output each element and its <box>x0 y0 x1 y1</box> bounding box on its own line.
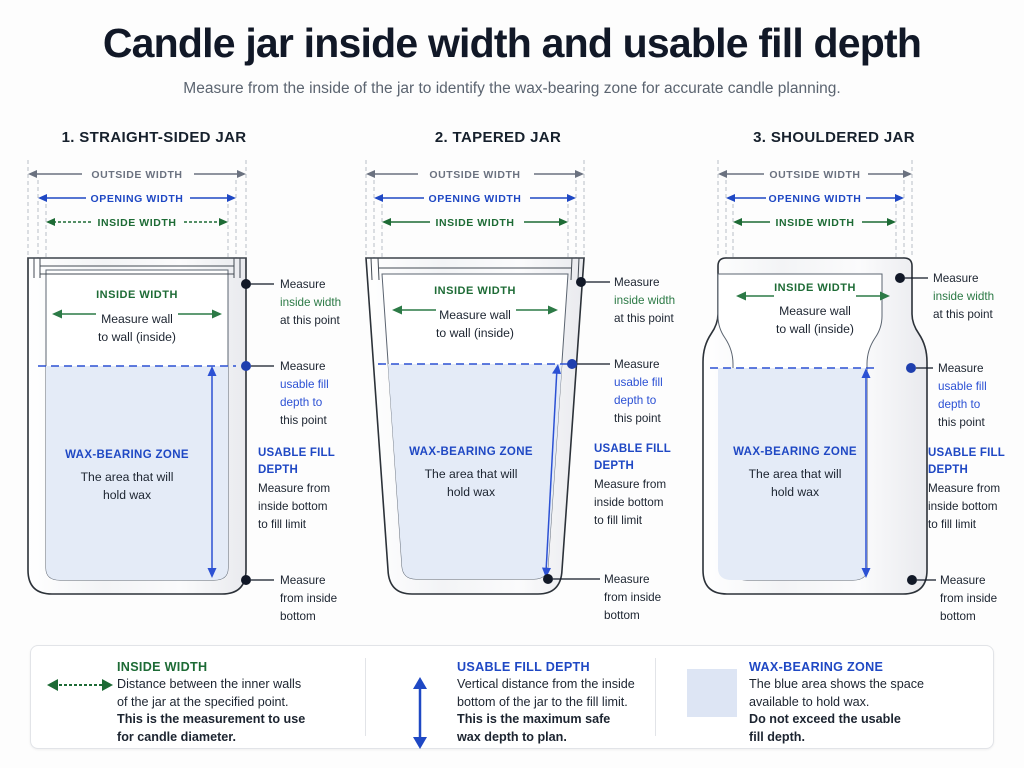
callout-top-line3: at this point <box>933 308 994 321</box>
callout-bottom-line3: bottom <box>940 610 976 623</box>
legend-title: USABLE FILL DEPTH <box>457 660 635 674</box>
legend-line: of the jar at the specified point. <box>117 694 305 712</box>
shouldered-jar-illustration: OUTSIDE WIDTH OPENING WIDTH INSIDE WIDTH <box>688 118 1024 638</box>
opening-width-label: OPENING WIDTH <box>769 193 862 205</box>
callout-dot-bottom <box>543 574 553 584</box>
wax-zone-title: WAX-BEARING ZONE <box>409 446 533 458</box>
straight-sided-jar-illustration: OUTSIDE WIDTH OPENING WIDTH INSIDE WIDTH <box>8 118 348 638</box>
side-line2: inside bottom <box>258 500 328 513</box>
callout-dot-fill <box>241 361 251 371</box>
callout-top-line2: inside width <box>280 296 341 309</box>
legend-item-wax-bearing-zone: WAX-BEARING ZONE The blue area shows the… <box>655 646 991 748</box>
inside-width-inner-line1: Measure wall <box>439 308 511 322</box>
legend-line: for candle diameter. <box>117 729 305 747</box>
diagram-page: Candle jar inside width and usable fill … <box>0 0 1024 768</box>
panel-tapered-jar: 2. TAPERED JAR OUTSI <box>348 118 688 638</box>
callout-mid-line2: usable fill <box>938 380 987 393</box>
callout-top-line1: Measure <box>614 276 659 289</box>
side-title-line2: DEPTH <box>928 464 968 476</box>
wax-zone-title: WAX-BEARING ZONE <box>65 449 189 461</box>
legend-title: INSIDE WIDTH <box>117 660 305 674</box>
legend-line: Distance between the inner walls <box>117 676 305 694</box>
inside-width-inner-title: INSIDE WIDTH <box>96 289 178 301</box>
legend-line: bottom of the jar to the fill limit. <box>457 694 635 712</box>
dimension-opening-width: OPENING WIDTH <box>374 193 576 205</box>
callout-mid-line4: this point <box>280 414 328 427</box>
legend-line: available to hold wax. <box>749 694 924 712</box>
callout-mid-line2: usable fill <box>280 378 329 391</box>
callout-bottom-line1: Measure <box>604 573 649 586</box>
callout-mid-line3: depth to <box>614 394 657 407</box>
inside-width-inner-title: INSIDE WIDTH <box>774 282 856 294</box>
opening-width-label: OPENING WIDTH <box>91 193 184 205</box>
outside-width-label: OUTSIDE WIDTH <box>429 169 520 181</box>
callout-bottom-line1: Measure <box>940 574 985 587</box>
wax-zone-line1: The area that will <box>425 467 518 481</box>
dimension-outside-width: OUTSIDE WIDTH <box>718 169 912 181</box>
panel-straight-sided-jar: 1. STRAIGHT-SIDED JAR <box>8 118 348 638</box>
callout-dot-fill <box>567 359 577 369</box>
callout-bottom-line2: from inside <box>604 591 661 604</box>
page-title: Candle jar inside width and usable fill … <box>0 20 1024 66</box>
dimension-inside-width: INSIDE WIDTH <box>733 217 896 229</box>
callout-top-line1: Measure <box>280 278 325 291</box>
opening-width-label: OPENING WIDTH <box>429 193 522 205</box>
dimension-inside-width: INSIDE WIDTH <box>46 217 228 229</box>
wax-zone-line2: hold wax <box>103 488 151 502</box>
callout-top-line2: inside width <box>933 290 994 303</box>
side-line1: Measure from <box>258 482 330 495</box>
legend: INSIDE WIDTH Distance between the inner … <box>30 645 994 749</box>
inside-width-label: INSIDE WIDTH <box>436 217 515 229</box>
outside-width-label: OUTSIDE WIDTH <box>91 169 182 181</box>
inside-width-label: INSIDE WIDTH <box>98 217 177 229</box>
inside-width-inner-line2: to wall (inside) <box>98 330 176 344</box>
horizontal-double-arrow-green-icon <box>43 659 117 695</box>
callout-top-line3: at this point <box>280 314 341 327</box>
legend-text-wax-bearing-zone: WAX-BEARING ZONE The blue area shows the… <box>749 659 924 746</box>
outside-width-label: OUTSIDE WIDTH <box>769 169 860 181</box>
callout-mid-line1: Measure <box>280 360 325 373</box>
side-line1: Measure from <box>594 478 666 491</box>
legend-text-usable-fill-depth: USABLE FILL DEPTH Vertical distance from… <box>457 659 635 746</box>
panel-shouldered-jar: 3. SHOULDERED JAR OU <box>688 118 1024 638</box>
legend-line: This is the measurement to use <box>117 711 305 729</box>
callout-mid-line3: depth to <box>280 396 323 409</box>
callout-bottom-line2: from inside <box>280 592 337 605</box>
side-title-line1: USABLE FILL <box>928 447 1005 459</box>
side-line3: to fill limit <box>258 518 307 531</box>
side-title-line2: DEPTH <box>258 464 298 476</box>
dimension-inside-width: INSIDE WIDTH <box>382 217 568 229</box>
side-line1: Measure from <box>928 482 1000 495</box>
callout-dot-fill <box>906 363 916 373</box>
side-title-line1: USABLE FILL <box>258 447 335 459</box>
callout-mid-line4: this point <box>938 416 986 429</box>
callout-top-line2: inside width <box>614 294 675 307</box>
legend-item-usable-fill-depth: USABLE FILL DEPTH Vertical distance from… <box>365 646 655 748</box>
vertical-double-arrow-blue-icon <box>383 659 457 751</box>
callout-top-line1: Measure <box>933 272 978 285</box>
callout-mid-line3: depth to <box>938 398 981 411</box>
callout-top-line3: at this point <box>614 312 675 325</box>
callout-bottom-line1: Measure <box>280 574 325 587</box>
callout-bottom-line2: from inside <box>940 592 997 605</box>
side-title-line1: USABLE FILL <box>594 443 671 455</box>
dimension-opening-width: OPENING WIDTH <box>38 193 236 205</box>
legend-title: WAX-BEARING ZONE <box>749 660 924 674</box>
callout-dot-top <box>895 273 905 283</box>
callout-bottom-line3: bottom <box>280 610 316 623</box>
wax-zone-line1: The area that will <box>749 467 842 481</box>
legend-item-inside-width: INSIDE WIDTH Distance between the inner … <box>31 646 365 748</box>
page-subtitle: Measure from the inside of the jar to id… <box>0 79 1024 99</box>
callout-dot-top <box>576 277 586 287</box>
wax-zone-line2: hold wax <box>447 485 495 499</box>
callout-bottom-line3: bottom <box>604 609 640 622</box>
side-line3: to fill limit <box>594 514 643 527</box>
inside-width-inner-title: INSIDE WIDTH <box>434 285 516 297</box>
inside-width-label: INSIDE WIDTH <box>776 217 855 229</box>
dimension-outside-width: OUTSIDE WIDTH <box>366 169 584 181</box>
side-line3: to fill limit <box>928 518 977 531</box>
inside-width-inner-line1: Measure wall <box>101 312 173 326</box>
legend-line: fill depth. <box>749 729 924 747</box>
legend-line: The blue area shows the space <box>749 676 924 694</box>
inside-width-inner-line2: to wall (inside) <box>776 322 854 336</box>
tapered-jar-illustration: OUTSIDE WIDTH OPENING WIDTH INSIDE WIDTH <box>348 118 688 638</box>
callout-dot-bottom <box>907 575 917 585</box>
legend-line: wax depth to plan. <box>457 729 635 747</box>
inside-width-inner-line2: to wall (inside) <box>436 326 514 340</box>
jar-body <box>28 258 246 594</box>
blue-swatch-icon <box>675 659 749 717</box>
callout-dot-bottom <box>241 575 251 585</box>
side-title-line2: DEPTH <box>594 460 634 472</box>
callout-mid-line4: this point <box>614 412 662 425</box>
legend-line: This is the maximum safe <box>457 711 635 729</box>
legend-line: Vertical distance from the inside <box>457 676 635 694</box>
callout-mid-line2: usable fill <box>614 376 663 389</box>
callout-dot-top <box>241 279 251 289</box>
wax-zone-line1: The area that will <box>81 470 174 484</box>
dimension-opening-width: OPENING WIDTH <box>726 193 904 205</box>
callout-mid-line1: Measure <box>614 358 659 371</box>
side-line2: inside bottom <box>928 500 998 513</box>
inside-width-inner-line1: Measure wall <box>779 304 851 318</box>
side-line2: inside bottom <box>594 496 664 509</box>
wax-zone-title: WAX-BEARING ZONE <box>733 446 857 458</box>
wax-zone-line2: hold wax <box>771 485 819 499</box>
legend-text-inside-width: INSIDE WIDTH Distance between the inner … <box>117 659 305 746</box>
dimension-outside-width: OUTSIDE WIDTH <box>28 169 246 181</box>
legend-line: Do not exceed the usable <box>749 711 924 729</box>
callout-mid-line1: Measure <box>938 362 983 375</box>
